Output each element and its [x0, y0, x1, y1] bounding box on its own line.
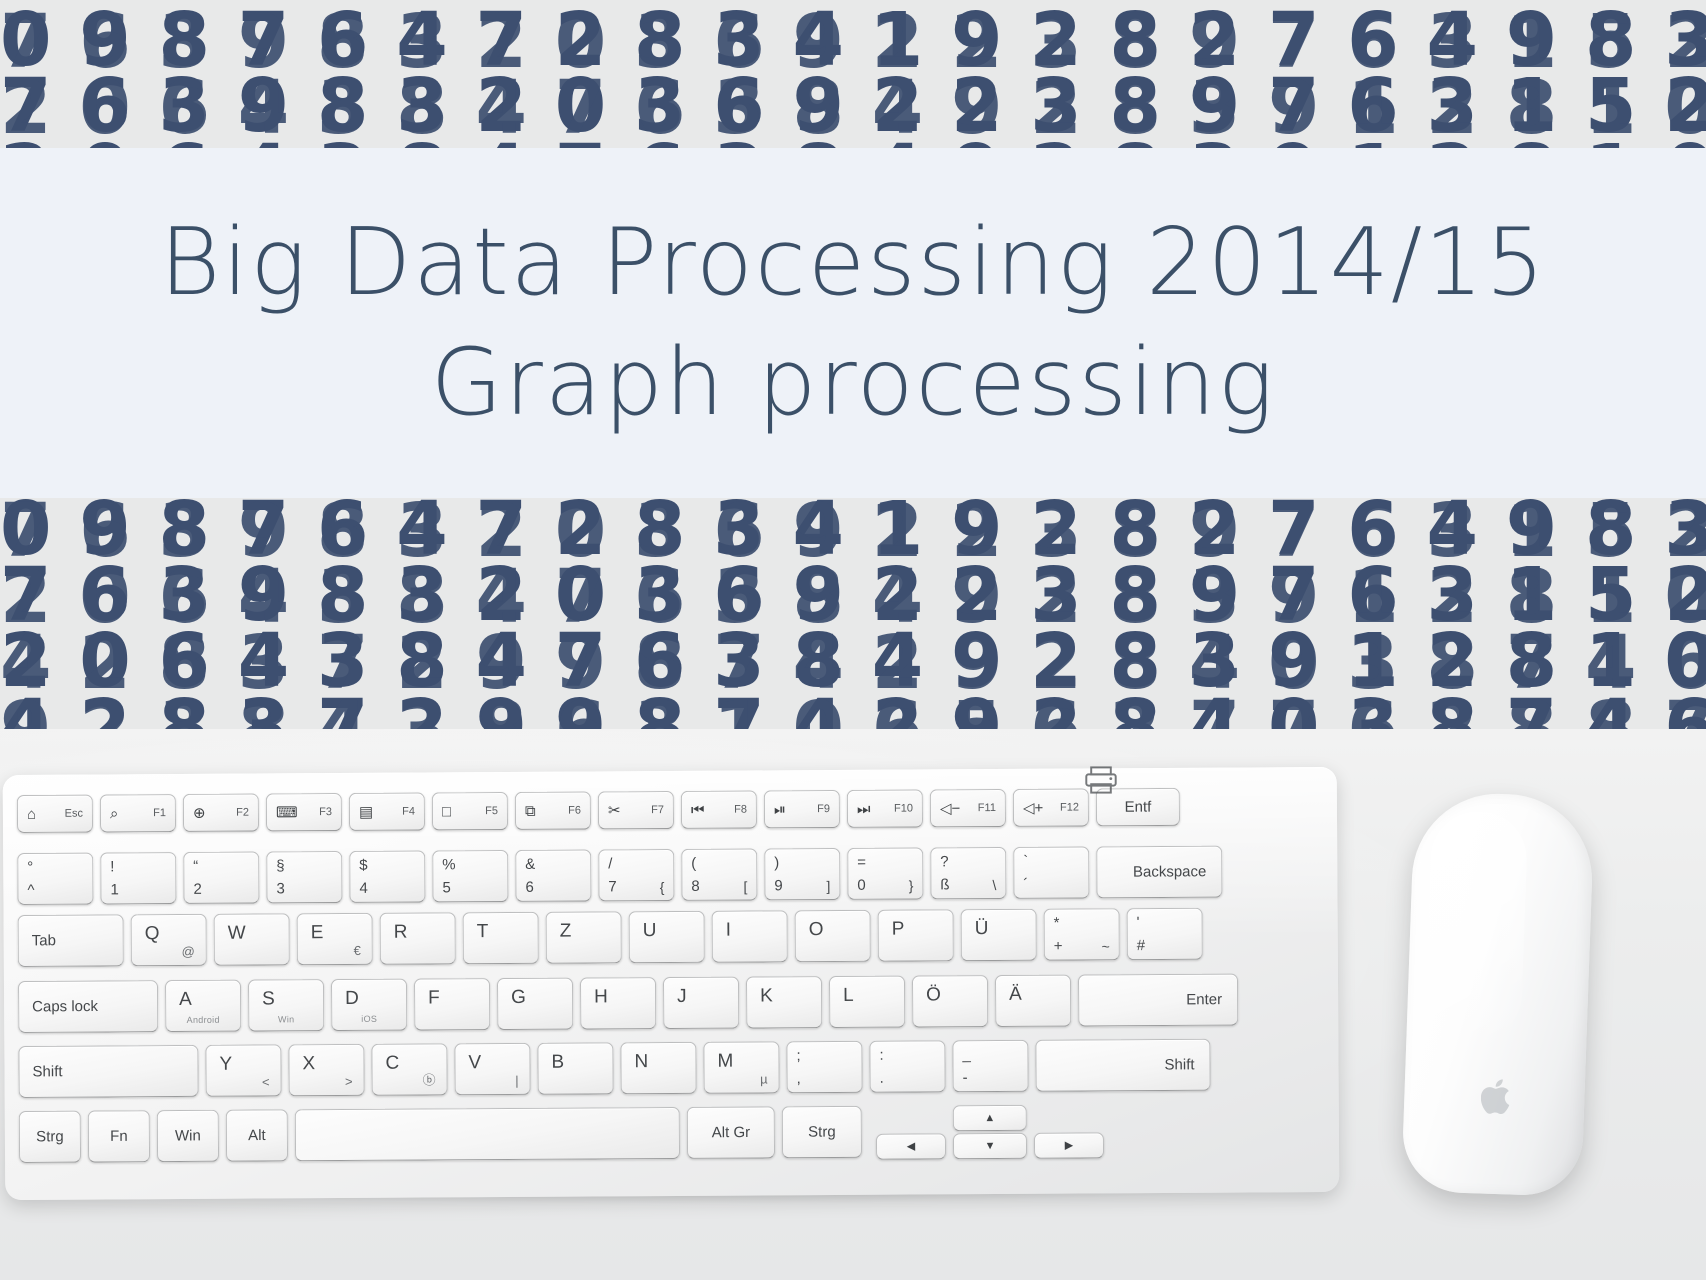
key-alt-gr[interactable]: Alt Gr: [687, 1106, 775, 1159]
arrow-right-icon: ▶: [1065, 1140, 1074, 1151]
key-shift-right[interactable]: Shift: [1035, 1039, 1210, 1092]
key-2[interactable]: “ 2: [183, 852, 259, 904]
key-label: 8: [691, 878, 699, 895]
calculator-icon: ▤: [359, 804, 373, 819]
key-n[interactable]: N: [620, 1042, 696, 1094]
key-label: ,: [797, 1070, 801, 1087]
key-t[interactable]: T: [463, 912, 539, 964]
key-x[interactable]: X >: [288, 1044, 364, 1096]
number-texture-row: 2 0 6 4 3 8 4 7 6 3 8 4 9 2 8 3 9 1 2 8 …: [0, 76, 1706, 140]
key-circumflex[interactable]: ° ^: [17, 853, 93, 905]
page-title: Big Data Processing 2014/15: [159, 214, 1546, 312]
key-p[interactable]: P: [878, 909, 954, 961]
key-shift-label: !: [110, 858, 114, 875]
key-label: Backspace: [1133, 863, 1206, 880]
key-label: Fn: [89, 1128, 149, 1145]
key-y[interactable]: Y <: [205, 1044, 281, 1096]
key-shift-label: ;: [796, 1047, 800, 1064]
key-f4[interactable]: ▤ F4: [349, 793, 425, 831]
key-label: 4: [359, 880, 367, 897]
key-label: Win: [158, 1127, 218, 1144]
key-m[interactable]: M µ: [703, 1041, 779, 1093]
key-label: 0: [857, 877, 865, 894]
key-label: E: [298, 922, 372, 944]
key-shift-label: %: [442, 856, 455, 873]
key-f2[interactable]: ⊕ F2: [183, 794, 259, 832]
key-label: I: [713, 919, 787, 941]
key-z[interactable]: Z: [546, 911, 622, 963]
key-period[interactable]: : .: [869, 1040, 945, 1092]
key-l[interactable]: L: [829, 976, 905, 1028]
mouse-body[interactable]: [1401, 791, 1595, 1197]
key-shift-label: /: [608, 855, 612, 872]
number-texture-row: 9 2 3 8 4 3 8 6 3 1 0 6 5 6 2 7 7 6 2 8 …: [0, 697, 1706, 729]
key-f6[interactable]: ⧉ F6: [515, 791, 591, 829]
key-label: Alt: [227, 1127, 287, 1144]
key-hash[interactable]: ' #: [1127, 908, 1203, 960]
key-g[interactable]: G: [497, 978, 573, 1030]
key-label: N: [621, 1051, 695, 1073]
key-altgr-label: ~: [1102, 938, 1110, 954]
key-altgr-label: [: [743, 879, 747, 895]
key-f10[interactable]: ⏭ F10: [847, 789, 923, 827]
key-e[interactable]: E €: [297, 913, 373, 965]
key-altgr-label: ]: [826, 878, 830, 894]
key-label: D: [332, 988, 406, 1010]
key-0[interactable]: = 0 }: [847, 847, 923, 899]
key-label: V: [455, 1052, 529, 1074]
key-a[interactable]: A Android: [165, 980, 241, 1032]
bluetooth-icon: ⓑ: [423, 1069, 436, 1088]
key-b[interactable]: B: [537, 1042, 613, 1094]
key-label: Shift: [1164, 1056, 1194, 1073]
key-label: F10: [894, 803, 913, 815]
key-f7[interactable]: ✂ F7: [598, 791, 674, 829]
key-label: U: [630, 920, 704, 942]
key-altgr-label: |: [515, 1073, 518, 1088]
key-f8[interactable]: ⏮ F8: [681, 790, 757, 828]
key-label: S: [249, 988, 323, 1010]
previous-track-icon: ⏮: [691, 802, 705, 817]
apple-logo-icon: [1480, 1075, 1515, 1116]
arrow-left-key[interactable]: ◀: [876, 1133, 946, 1159]
key-label: 5: [442, 879, 450, 896]
key-label: Enter: [1186, 991, 1222, 1008]
key-shift-label: ?: [940, 853, 948, 870]
key-label: Caps lock: [32, 998, 98, 1015]
key-8[interactable]: ( 8 [: [681, 848, 757, 900]
key-u[interactable]: U: [629, 911, 705, 963]
arrow-down-icon: ▼: [985, 1141, 996, 1152]
key-label: [296, 1133, 679, 1135]
key-label: R: [381, 921, 455, 943]
key-label: O: [796, 919, 870, 941]
home-icon: ⌂: [27, 806, 36, 821]
key-label: H: [581, 986, 655, 1008]
key-label: F6: [568, 805, 581, 817]
key-label: F: [415, 987, 489, 1009]
key-v[interactable]: V |: [454, 1043, 530, 1095]
key-uumlaut[interactable]: Ü: [961, 909, 1037, 961]
key-label: K: [747, 985, 821, 1007]
key-oumlaut[interactable]: Ö: [912, 975, 988, 1027]
key-label: F5: [485, 805, 498, 817]
globe-icon: ⊕: [193, 805, 206, 820]
key-label: T: [464, 921, 538, 943]
key-label: .: [880, 1070, 884, 1087]
key-label: W: [215, 922, 289, 944]
key-label: +: [1054, 938, 1063, 955]
key-altgr-label: €: [354, 943, 361, 958]
key-strg-left[interactable]: Strg: [19, 1111, 81, 1163]
key-f11[interactable]: ◁− F11: [930, 789, 1006, 827]
key-4[interactable]: $ 4: [349, 850, 425, 902]
key-label: L: [830, 985, 904, 1007]
key-label: ´: [1023, 876, 1028, 893]
key-altgr-label: >: [345, 1074, 353, 1089]
keyboard-y-row: Shift Y < X > C ⓑ V | B N: [18, 1039, 1210, 1098]
key-shift-left[interactable]: Shift: [18, 1045, 198, 1098]
key-shift-label: °: [27, 859, 33, 876]
key-1[interactable]: ! 1: [100, 852, 176, 904]
key-label: 2: [193, 881, 201, 898]
key-strg-right[interactable]: Strg: [782, 1106, 862, 1158]
key-shift-label: (: [691, 855, 696, 872]
keyboard[interactable]: ⌂ Esc ⌕ F1 ⊕ F2 ⌨ F3 ▤ F4 □ F5: [3, 767, 1340, 1200]
key-altgr-label: \: [992, 877, 996, 893]
keyboard-number-row: ° ^ ! 1 “ 2 § 3 $ 4 % 5: [17, 846, 1222, 905]
next-track-icon: ⏭: [857, 801, 871, 816]
key-fn[interactable]: Fn: [88, 1110, 150, 1162]
key-label: #: [1137, 937, 1145, 954]
key-label: F2: [236, 807, 249, 819]
keyboard-modifier-row: Strg Fn Win Alt Alt Gr Strg ◀: [19, 1104, 1104, 1165]
arrow-key-cluster: ◀ ▲ ▼ ▶: [876, 1104, 1104, 1159]
key-label: B: [538, 1051, 612, 1073]
key-label: F4: [402, 806, 415, 818]
key-plus[interactable]: * + ~: [1044, 908, 1120, 960]
key-label: X: [289, 1053, 363, 1075]
key-5[interactable]: % 5: [432, 850, 508, 902]
key-label: P: [879, 918, 953, 940]
arrow-up-icon: ▲: [984, 1113, 995, 1124]
key-f1[interactable]: ⌕ F1: [100, 794, 176, 832]
key-label: F11: [978, 802, 996, 814]
key-alt[interactable]: Alt: [226, 1109, 288, 1161]
document-icon: □: [442, 804, 451, 819]
key-shift-label: :: [879, 1047, 883, 1064]
key-j[interactable]: J: [663, 977, 739, 1029]
key-win[interactable]: Win: [157, 1110, 219, 1162]
key-shift-label: *: [1054, 915, 1060, 932]
key-altgr-label: @: [182, 944, 195, 959]
key-f9[interactable]: ⏯ F9: [764, 790, 840, 828]
key-9[interactable]: ) 9 ]: [764, 848, 840, 900]
page-subtitle: Graph processing: [431, 334, 1276, 432]
key-label: ^: [27, 882, 34, 899]
key-shift-label: `: [1023, 853, 1028, 870]
key-label: Ä: [996, 984, 1070, 1006]
background-number-texture-top: 0 9 8 7 6 4 7 2 8 3 4 1 9 2 8 2 7 6 4 9 …: [0, 8, 1706, 154]
key-k[interactable]: K: [746, 976, 822, 1028]
key-label: 9: [774, 877, 782, 894]
key-label: Y: [206, 1053, 280, 1075]
key-f12[interactable]: ◁+ F12: [1013, 788, 1089, 826]
key-label: Alt Gr: [688, 1124, 774, 1142]
keyboard-icon: ⌨: [276, 805, 298, 820]
arrow-right-key[interactable]: ▶: [1034, 1132, 1104, 1158]
key-label: Q: [132, 923, 206, 945]
key-label: Entf: [1097, 798, 1179, 816]
key-label: 7: [608, 878, 616, 895]
volume-down-icon: ◁−: [940, 801, 960, 816]
key-comma[interactable]: ; ,: [786, 1041, 862, 1093]
key-sublabel-ios: iOS: [332, 1014, 406, 1024]
key-altgr-label: µ: [760, 1071, 768, 1086]
key-acute[interactable]: ` ´: [1013, 846, 1089, 898]
arrow-up-key[interactable]: ▲: [953, 1105, 1027, 1131]
key-label: F8: [734, 804, 747, 816]
key-shift-label: &: [525, 856, 535, 873]
keyboard-function-row: ⌂ Esc ⌕ F1 ⊕ F2 ⌨ F3 ▤ F4 □ F5: [17, 788, 1180, 833]
key-f5[interactable]: □ F5: [432, 792, 508, 830]
key-q[interactable]: Q @: [131, 914, 207, 966]
key-r[interactable]: R: [380, 912, 456, 964]
key-o[interactable]: O: [795, 910, 871, 962]
key-backspace[interactable]: Backspace: [1096, 846, 1222, 899]
key-label: M: [704, 1050, 778, 1072]
key-c[interactable]: C ⓑ: [371, 1043, 447, 1095]
key-w[interactable]: W: [214, 913, 290, 965]
key-label: Ö: [913, 984, 987, 1006]
key-esc[interactable]: ⌂ Esc: [17, 795, 93, 833]
printer-icon: [1084, 766, 1118, 794]
key-label: F9: [817, 803, 830, 815]
key-caps-lock[interactable]: Caps lock: [18, 980, 158, 1033]
key-shift-label: ): [774, 854, 779, 871]
key-s[interactable]: S Win: [248, 979, 324, 1031]
key-label: F3: [319, 806, 332, 818]
presentation-slide: 0 9 8 7 6 4 7 2 8 3 4 1 9 2 8 2 7 6 4 9 …: [0, 0, 1706, 1280]
key-tab[interactable]: Tab: [18, 914, 124, 967]
key-shift-label: $: [359, 857, 367, 874]
key-label: Esc: [65, 808, 83, 820]
scissors-icon: ✂: [608, 803, 621, 818]
key-label: Ü: [962, 918, 1036, 940]
key-shift-label: _: [962, 1046, 970, 1063]
key-shift-label: “: [193, 858, 198, 875]
key-label: A: [166, 989, 240, 1011]
title-panel: Big Data Processing 2014/15 Graph proces…: [0, 148, 1706, 498]
search-icon: ⌕: [110, 806, 118, 821]
key-label: Strg: [20, 1128, 80, 1145]
key-label: ß: [940, 876, 949, 893]
key-shift-label: §: [276, 857, 284, 874]
key-label: G: [498, 987, 572, 1009]
key-label: Z: [547, 920, 621, 942]
key-altgr-label: }: [909, 878, 914, 894]
key-label: 1: [110, 881, 118, 898]
keyboard-q-row: Tab Q @ W E € R T Z U: [18, 908, 1203, 967]
key-label: 6: [525, 879, 533, 896]
key-label: F7: [651, 804, 664, 816]
arrow-vertical-stack: ▲ ▼: [953, 1105, 1027, 1159]
arrow-left-icon: ◀: [907, 1141, 916, 1152]
key-f3[interactable]: ⌨ F3: [266, 793, 342, 831]
key-i[interactable]: I: [712, 910, 788, 962]
key-label: F12: [1060, 802, 1079, 814]
key-label: Tab: [32, 932, 56, 949]
key-3[interactable]: § 3: [266, 851, 342, 903]
key-aumlaut[interactable]: Ä: [995, 975, 1071, 1027]
play-pause-icon: ⏯: [774, 802, 786, 817]
volume-up-icon: ◁+: [1023, 800, 1043, 815]
key-f[interactable]: F: [414, 978, 490, 1030]
key-label: 3: [276, 880, 284, 897]
key-eszett[interactable]: ? ß \: [930, 847, 1006, 899]
key-shift-label: =: [857, 854, 866, 871]
key-space[interactable]: [295, 1107, 680, 1161]
key-h[interactable]: H: [580, 977, 656, 1029]
key-label: J: [664, 986, 738, 1008]
key-6[interactable]: & 6: [515, 849, 591, 901]
key-d[interactable]: D iOS: [331, 979, 407, 1031]
key-label: Shift: [32, 1063, 62, 1080]
key-label: F1: [153, 807, 166, 819]
key-label: -: [963, 1069, 968, 1086]
key-label: Strg: [783, 1123, 861, 1140]
key-enter[interactable]: Enter: [1078, 974, 1238, 1027]
key-minus[interactable]: _ -: [952, 1040, 1028, 1092]
mouse[interactable]: [1408, 794, 1588, 1194]
key-altgr-label: {: [660, 879, 665, 895]
key-altgr-label: <: [262, 1074, 270, 1089]
key-shift-label: ': [1137, 914, 1140, 931]
key-sublabel-android: Android: [166, 1015, 240, 1025]
background-number-texture-bottom: 0 9 8 7 6 4 7 2 8 3 4 1 9 2 8 2 7 6 4 9 …: [0, 497, 1706, 729]
key-sublabel-win: Win: [249, 1014, 323, 1024]
arrow-down-key[interactable]: ▼: [953, 1133, 1027, 1159]
copy-icon: ⧉: [525, 803, 536, 818]
key-7[interactable]: / 7 {: [598, 849, 674, 901]
keyboard-a-row: Caps lock A Android S Win D iOS F G H: [18, 974, 1238, 1033]
